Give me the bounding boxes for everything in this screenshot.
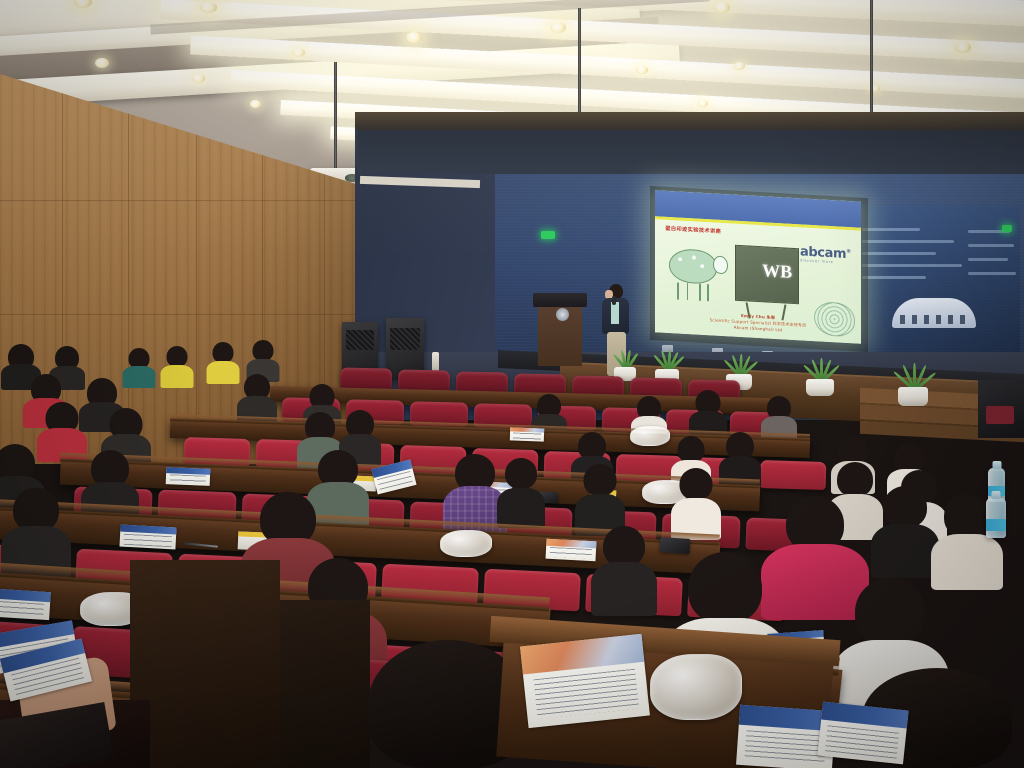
downlight [192,74,205,83]
brochure-foreground-right-2 [817,702,908,765]
downlight [406,32,422,43]
sample-bag-foreground [650,654,742,720]
downlight [292,48,305,57]
brochure [510,427,544,441]
sample-bag [630,426,670,446]
brochure-foreground [520,634,650,728]
brochure [119,525,176,550]
downlight [698,100,708,107]
audience-member [122,348,156,388]
audience-member [160,346,194,388]
audience-member [590,526,658,616]
brochure [546,539,597,562]
downlight [95,58,109,68]
presenter-inner-top [611,302,619,324]
brochure [166,467,211,486]
emergency-exit-sign-right [1002,225,1012,232]
abcam-logo: abcam® discover more [800,245,851,265]
lecture-hall-photo: 蛋白印迹实验技术讲座 WB abcam® discover more Emily… [0,0,1024,768]
audience-member [206,342,240,384]
sheep-illustration [669,245,727,302]
slide-board-text: WB [762,262,792,282]
sample-bag [440,530,492,557]
projection-screen: 蛋白印迹实验技术讲座 WB abcam® discover more Emily… [655,190,861,344]
downlight [550,22,566,33]
wall-banner-graphic [852,206,1020,358]
brochure [0,588,51,620]
downlight [955,42,971,53]
emergency-exit-sign [541,231,555,239]
downlight [200,2,217,13]
downlight [714,2,730,13]
downlight [734,62,745,70]
downlight [250,100,261,108]
handheld-microphone [612,296,616,305]
lectern-emblem [556,308,569,321]
soffit [355,112,1024,130]
audience-member [496,458,546,528]
downlight [636,66,648,74]
audience-member [670,468,722,540]
attendee-sleeve [0,702,114,768]
projector-mount-pole-left [334,62,337,172]
water-bottle [986,498,1006,538]
registered-mark-icon: ® [846,248,851,254]
foreground-desk-end [130,560,280,768]
seat [760,460,827,490]
